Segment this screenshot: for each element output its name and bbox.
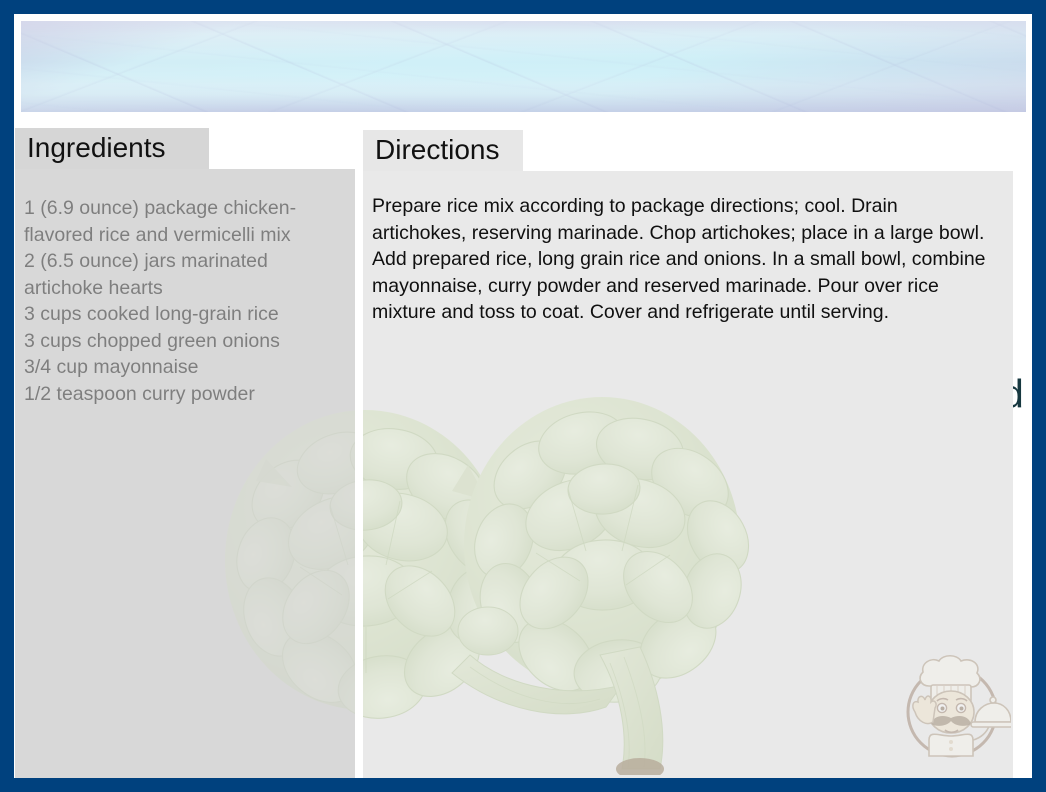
directions-text: Prepare rice mix according to package di… bbox=[363, 171, 1013, 326]
ingredients-panel: 1 (6.9 ounce) package chicken- flavored … bbox=[15, 169, 355, 778]
list-item: 1/2 teaspoon curry powder bbox=[24, 381, 345, 408]
list-item: 3/4 cup mayonnaise bbox=[24, 354, 345, 381]
list-item: flavored rice and vermicelli mix bbox=[24, 222, 345, 249]
ingredients-list: 1 (6.9 ounce) package chicken- flavored … bbox=[15, 169, 355, 407]
chef-logo bbox=[893, 646, 1011, 766]
list-item: 3 cups cooked long-grain rice bbox=[24, 301, 345, 328]
tab-ingredients[interactable]: Ingredients bbox=[15, 128, 209, 169]
list-item: 2 (6.5 ounce) jars marinated bbox=[24, 248, 345, 275]
tab-directions[interactable]: Directions bbox=[363, 130, 523, 171]
list-item: 1 (6.9 ounce) package chicken- bbox=[24, 195, 345, 222]
list-item: artichoke hearts bbox=[24, 275, 345, 302]
banner-sheen bbox=[21, 21, 1026, 112]
recipe-card: Artichoke Rice Salad 1 (6.9 ounce) packa… bbox=[0, 0, 1046, 792]
title-banner bbox=[21, 21, 1026, 112]
list-item: 3 cups chopped green onions bbox=[24, 328, 345, 355]
